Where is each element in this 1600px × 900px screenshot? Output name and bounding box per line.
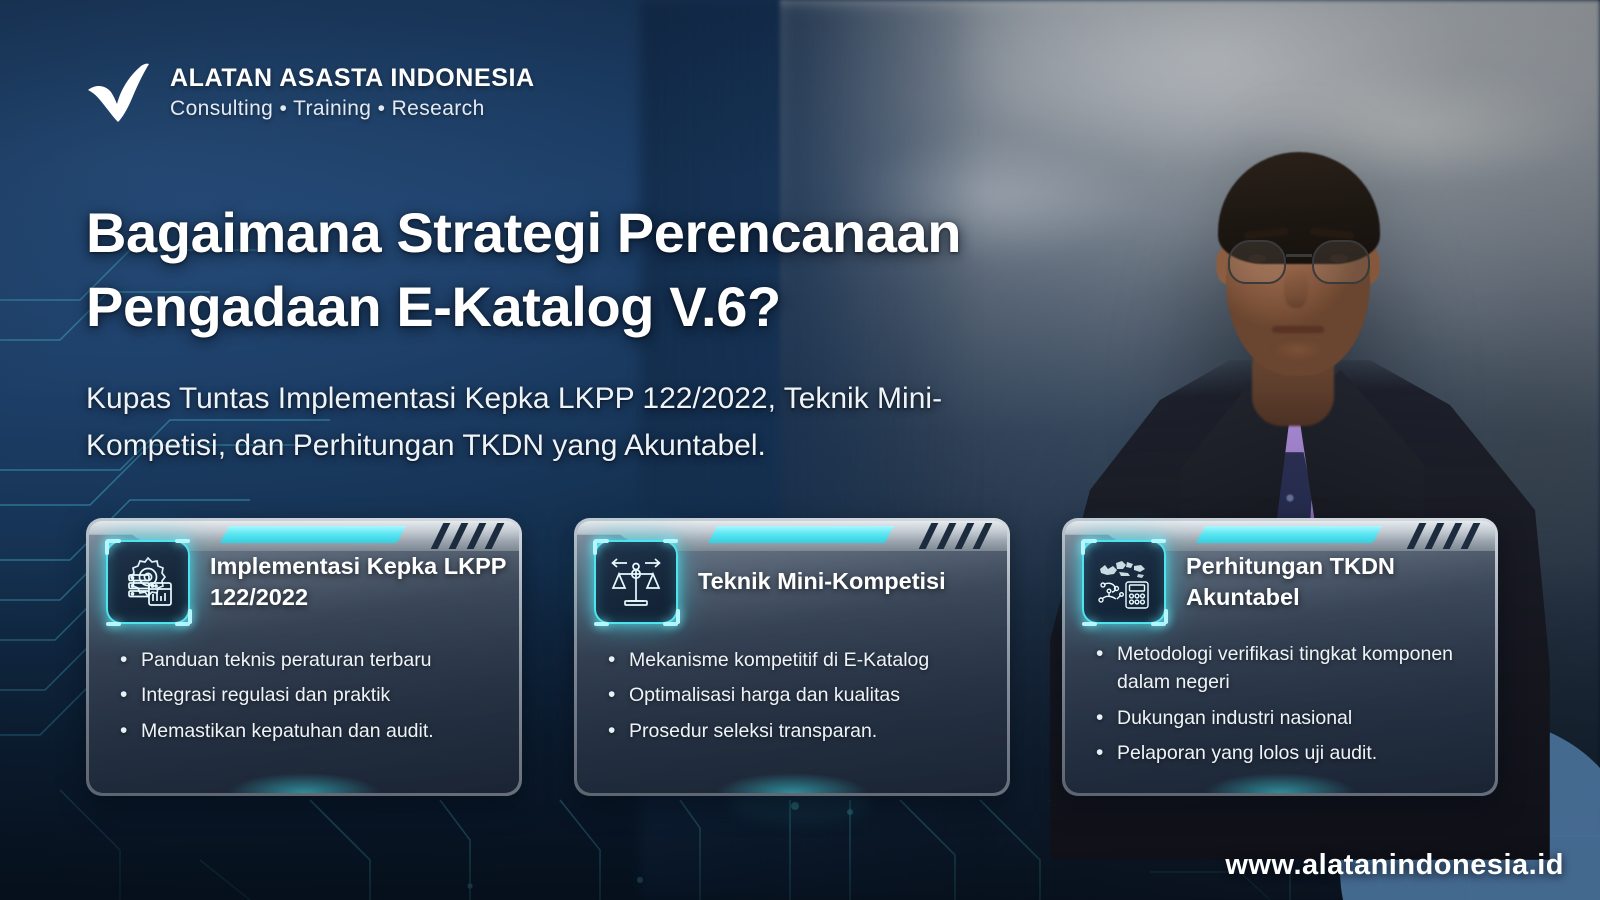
card-bullet: Memastikan kepatuhan dan audit.: [116, 717, 510, 745]
indonesia-map-calculator-icon: [1082, 540, 1166, 624]
card-bullet: Mekanisme kompetitif di E-Katalog: [604, 646, 998, 674]
feature-card: Teknik Mini-Kompetisi Mekanisme kompetit…: [574, 518, 1010, 796]
feature-card: Implementasi Kepka LKPP 122/2022 Panduan…: [86, 518, 522, 796]
card-bullet: Optimalisasi harga dan kualitas: [604, 681, 998, 709]
bird-checkmark-logo-icon: [86, 62, 152, 124]
card-header: Implementasi Kepka LKPP 122/2022: [106, 540, 510, 624]
subheadline: Kupas Tuntas Implementasi Kepka LKPP 122…: [86, 376, 1016, 470]
card-header: Teknik Mini-Kompetisi: [594, 540, 946, 624]
card-bullet: Dukungan industri nasional: [1092, 704, 1486, 732]
card-bullet: Panduan teknis peraturan terbaru: [116, 646, 510, 674]
feature-cards: Implementasi Kepka LKPP 122/2022 Panduan…: [86, 518, 1498, 798]
card-bullet-list: Mekanisme kompetitif di E-Katalog Optima…: [604, 646, 998, 752]
website-url[interactable]: www.alatanindonesia.id: [1225, 849, 1564, 882]
card-bullet: Prosedur seleksi transparan.: [604, 717, 998, 745]
card-header: Perhitungan TKDN Akuntabel: [1082, 540, 1486, 624]
card-bullet: Metodologi verifikasi tingkat komponen d…: [1092, 640, 1486, 697]
brand-name: ALATAN ASASTA INDONESIA: [170, 65, 535, 91]
card-bullet-list: Metodologi verifikasi tingkat komponen d…: [1092, 640, 1486, 774]
balance-scale-icon: [594, 540, 678, 624]
card-bullet: Pelaporan yang lolos uji audit.: [1092, 739, 1486, 767]
card-bullet: Integrasi regulasi dan praktik: [116, 681, 510, 709]
headline: Bagaimana Strategi Perencanaan Pengadaan…: [86, 196, 1116, 344]
card-bullet-list: Panduan teknis peraturan terbaru Integra…: [116, 646, 510, 752]
card-title: Teknik Mini-Kompetisi: [698, 566, 946, 597]
brand-tagline: Consulting • Training • Research: [170, 97, 535, 121]
brand-logo: ALATAN ASASTA INDONESIA Consulting • Tra…: [86, 62, 535, 124]
card-title: Implementasi Kepka LKPP 122/2022: [210, 551, 510, 613]
promotional-banner: ALATAN ASASTA INDONESIA Consulting • Tra…: [0, 0, 1600, 900]
feature-card: Perhitungan TKDN Akuntabel Metodologi ve…: [1062, 518, 1498, 796]
card-title: Perhitungan TKDN Akuntabel: [1186, 551, 1486, 613]
gear-server-icon: [106, 540, 190, 624]
